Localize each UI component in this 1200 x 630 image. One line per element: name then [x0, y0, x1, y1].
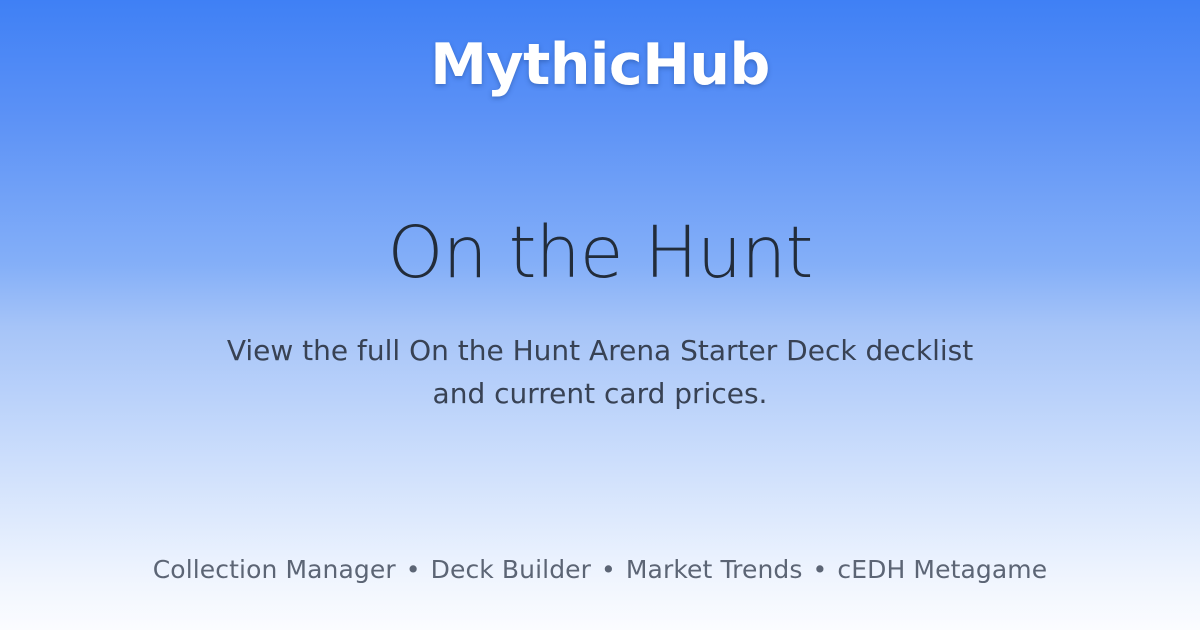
- feature-item-collection-manager: Collection Manager: [153, 555, 396, 585]
- feature-separator-3: •: [803, 555, 838, 585]
- feature-separator-1: •: [396, 555, 431, 585]
- page-title: On the Hunt: [388, 215, 813, 290]
- feature-item-deck-builder: Deck Builder: [431, 555, 591, 585]
- page-subtitle-line-2: and current card prices.: [227, 373, 973, 416]
- brand-header: MythicHub: [0, 0, 1200, 130]
- og-share-card: MythicHub On the Hunt View the full On t…: [0, 0, 1200, 630]
- hero-section: On the Hunt View the full On the Hunt Ar…: [0, 150, 1200, 480]
- page-subtitle-line-1: View the full On the Hunt Arena Starter …: [227, 330, 973, 373]
- footer-section: Collection Manager • Deck Builder • Mark…: [0, 510, 1200, 630]
- feature-item-cedh-metagame: cEDH Metagame: [837, 555, 1047, 585]
- feature-item-market-trends: Market Trends: [626, 555, 803, 585]
- brand-logo-text: MythicHub: [430, 37, 770, 94]
- feature-list: Collection Manager • Deck Builder • Mark…: [153, 555, 1047, 585]
- feature-separator-2: •: [591, 555, 626, 585]
- page-subtitle: View the full On the Hunt Arena Starter …: [227, 330, 973, 415]
